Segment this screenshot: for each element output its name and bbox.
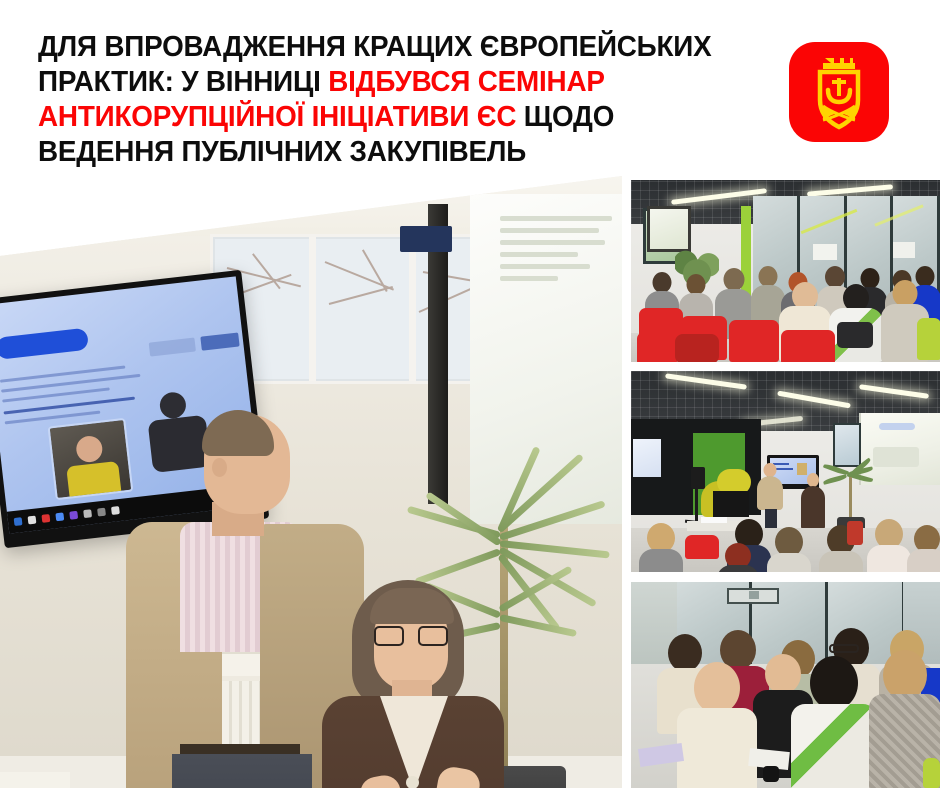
headline-line-2: ПРАКТИК: У ВІННИЦІ ВІДБУВСЯ СЕМІНАР	[38, 65, 739, 100]
female-presenter	[801, 473, 825, 531]
page-title: ДЛЯ ВПРОВАДЖЕННЯ КРАЩИХ ЄВРОПЕЙСЬКИХ ПРА…	[38, 30, 739, 170]
headline-line-3-highlight: АНТИКОРУПЦІЙНОЇ ІНІЦІАТИВИ ЄС	[38, 101, 516, 133]
news-card: ДЛЯ ВПРОВАДЖЕННЯ КРАЩИХ ЄВРОПЕЙСЬКИХ ПРА…	[0, 0, 940, 788]
vinnytsia-logo-badge	[789, 42, 889, 142]
presenters-room-photo	[631, 371, 940, 572]
headline-line-2-highlight: ВІДБУВСЯ СЕМІНАР	[328, 66, 605, 98]
headline-line-3: АНТИКОРУПЦІЙНОЇ ІНІЦІАТИВИ ЄС ЩОДО	[38, 100, 739, 135]
headline-line-3-black: ЩОДО	[516, 101, 614, 133]
headline-line-1: ДЛЯ ВПРОВАДЖЕННЯ КРАЩИХ ЄВРОПЕЙСЬКИХ	[38, 30, 739, 65]
headline-line-4: ВЕДЕННЯ ПУБЛІЧНИХ ЗАКУПІВЕЛЬ	[38, 135, 739, 170]
front-row-person-1	[677, 662, 757, 788]
coat-of-arms-icon	[789, 42, 889, 142]
audience-photo-2	[631, 582, 940, 788]
headline-line-2-black: ПРАКТИК: У ВІННИЦІ	[38, 66, 328, 98]
male-presenter	[757, 463, 783, 525]
audience-photo-1	[631, 180, 940, 362]
main-speakers-photo	[0, 176, 622, 788]
female-speaker	[318, 580, 538, 788]
front-row-person-2	[791, 656, 877, 788]
